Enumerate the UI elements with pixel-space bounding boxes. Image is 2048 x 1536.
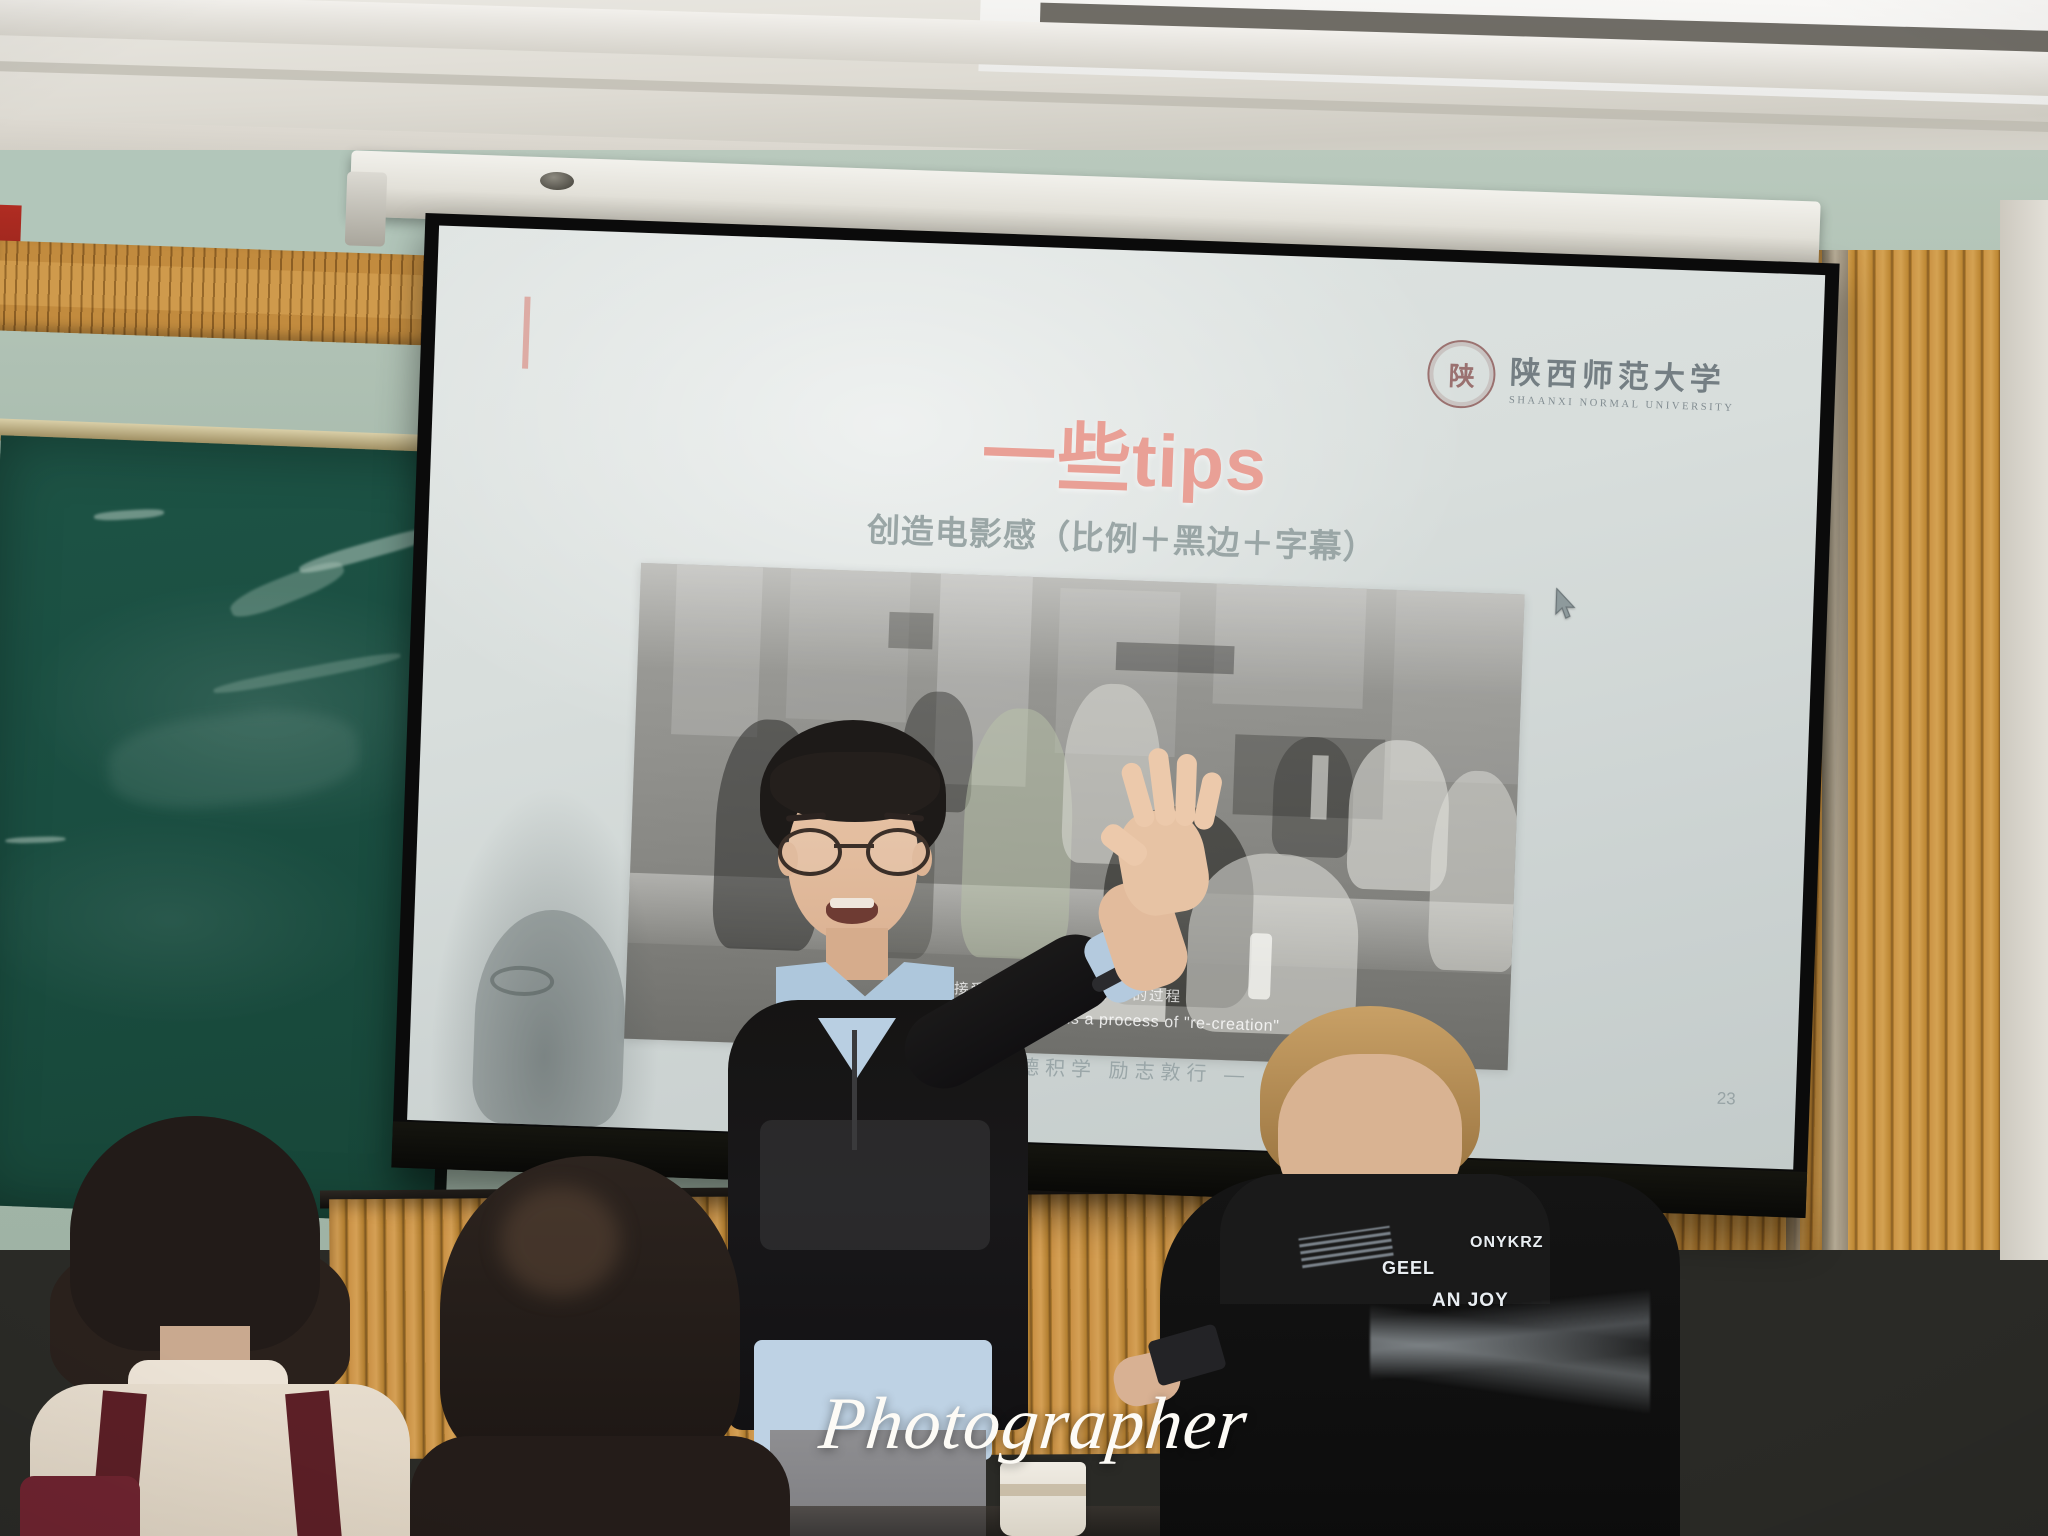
audience-member-front-right: GEEL ONYKRZ AN JOY	[1200, 1006, 1660, 1536]
photo-dark-patch	[1116, 642, 1235, 674]
university-seal-icon: 陕	[1427, 339, 1497, 409]
photo-dark-patch	[888, 612, 933, 650]
audience-torso	[410, 1436, 790, 1536]
lecture-hall-photo: 三星 投影 陕 陕西师范大学 SHAANXI NORMAL UNIVERSITY…	[0, 0, 2048, 1536]
presenter-torso-shading	[760, 1120, 990, 1250]
presenter-glasses-icon	[778, 828, 930, 868]
hoodie-print-text-3: AN JOY	[1432, 1290, 1509, 1312]
slide-page-number: 23	[1716, 1089, 1736, 1110]
university-name-cn: 陕西师范大学	[1509, 346, 1736, 399]
screen-housing-endcap	[345, 171, 388, 246]
university-logo: 陕 陕西师范大学 SHAANXI NORMAL UNIVERSITY	[1427, 339, 1737, 418]
audience-hair-highlight	[500, 1186, 620, 1296]
photo-window	[1212, 584, 1366, 709]
paper-cup-band	[1000, 1484, 1086, 1496]
chalk-mark	[5, 836, 65, 844]
audience-bag	[20, 1476, 140, 1536]
audience-hair-top	[70, 1116, 320, 1351]
audience-member-front-left	[40, 1116, 390, 1536]
right-wall-edge	[2000, 200, 2048, 1260]
chalk-mark	[94, 508, 164, 522]
photo-lamp	[1310, 755, 1328, 820]
hoodie-print-text-1: GEEL	[1382, 1258, 1435, 1279]
presenter-zipper	[852, 1030, 857, 1150]
chalk-smudge	[105, 702, 363, 817]
glasses-lens	[778, 828, 842, 876]
glasses-lens	[866, 828, 930, 876]
university-logo-text: 陕西师范大学 SHAANXI NORMAL UNIVERSITY	[1509, 346, 1737, 413]
audience-member-front-center	[420, 1156, 770, 1536]
chalk-mark	[213, 649, 402, 696]
slide-accent-bar	[522, 297, 531, 369]
presenter-teeth	[830, 898, 874, 908]
hoodie-graphic-print	[1370, 1256, 1650, 1506]
hoodie-print-text-2: ONYKRZ	[1470, 1234, 1544, 1252]
paper-cup	[1000, 1462, 1086, 1536]
chalk-mark	[227, 555, 348, 624]
glasses-bridge	[834, 844, 874, 848]
presenter-fringe	[770, 752, 940, 822]
